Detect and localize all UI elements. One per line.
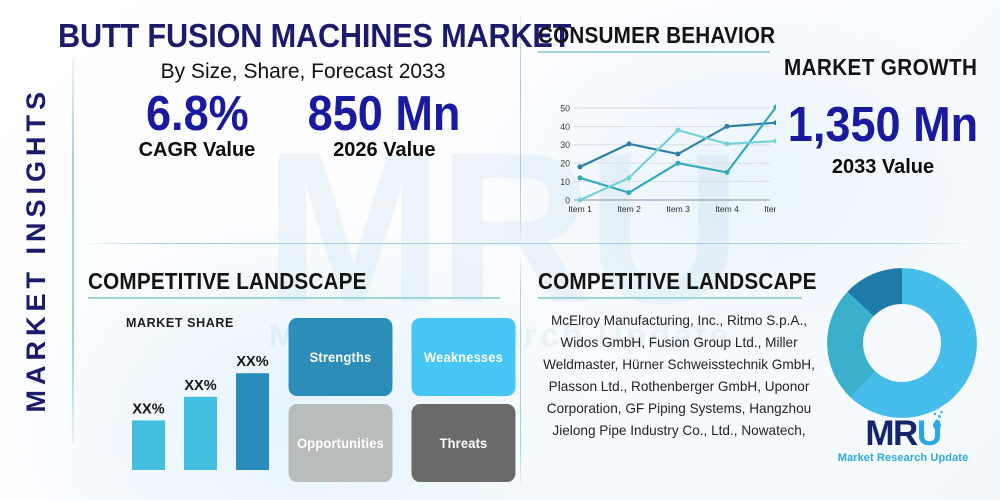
infographic-canvas: MRU Market Research Update MARKET INSIGH…	[0, 0, 1000, 500]
competitive-left-underline	[88, 297, 500, 299]
kpi-cagr-value: 6.8%	[143, 90, 250, 140]
consumer-behavior-line-chart: 01020304050 Item 1Item 2Item 3Item 4Item…	[548, 102, 776, 224]
swot-box-threats[interactable]: Threats	[412, 404, 516, 482]
svg-text:40: 40	[560, 122, 570, 132]
svg-text:XX%: XX%	[236, 354, 268, 370]
swot-box-opportunities[interactable]: Opportunities	[289, 404, 393, 482]
market-growth-label: 2033 Value	[778, 156, 988, 179]
company-list: McElroy Manufacturing, Inc., Ritmo S.p.A…	[538, 310, 820, 442]
logo-wordmark: MRU	[865, 416, 940, 451]
mru-logo: MRU Market Research Update	[824, 416, 982, 464]
competitive-landscape-left-panel: COMPETITIVE LANDSCAPE MARKET SHARE XX%XX…	[88, 268, 520, 299]
swot-threats-label: Threats	[440, 435, 488, 451]
swot-box-weaknesses[interactable]: Weaknesses	[412, 318, 516, 396]
kpi-2026-value: 850 Mn	[308, 90, 461, 140]
overview-subtitle: By Size, Share, Forecast 2033	[88, 60, 518, 84]
logo-mark-mr: MR	[865, 414, 916, 453]
svg-text:20: 20	[560, 159, 570, 169]
kpi-cagr-label: CAGR Value	[139, 139, 256, 162]
kpi-cagr: 6.8% CAGR Value	[139, 90, 256, 162]
rail-label: MARKET INSIGHTS	[21, 87, 52, 413]
line-chart-y-tick-labels: 01020304050	[560, 103, 570, 205]
swot-box-strengths[interactable]: Strengths	[289, 318, 393, 396]
logo-tagline: Market Research Update	[824, 452, 982, 464]
swot-strengths-label: Strengths	[310, 349, 372, 365]
competitive-left-heading: COMPETITIVE LANDSCAPE	[88, 268, 477, 295]
svg-text:Item 1: Item 1	[568, 204, 592, 214]
competitive-landscape-right-panel: COMPETITIVE LANDSCAPE McElroy Manufactur…	[538, 268, 990, 299]
donut-slices	[827, 268, 977, 418]
svg-text:Item 3: Item 3	[666, 204, 690, 214]
market-share-donut-chart	[824, 265, 980, 421]
water-droplet-icon	[929, 407, 945, 429]
market-share-bar-chart: XX%XX%XX%	[108, 320, 288, 480]
kpi-row: 6.8% CAGR Value 850 Mn 2026 Value	[88, 90, 518, 162]
vertical-divider-bottom	[520, 256, 521, 484]
svg-text:Item 5: Item 5	[764, 204, 776, 214]
consumer-behavior-underline	[538, 51, 770, 53]
svg-text:10: 10	[560, 177, 570, 187]
market-insights-rail: MARKET INSIGHTS	[0, 0, 72, 500]
svg-text:Item 4: Item 4	[715, 204, 739, 214]
kpi-2026: 850 Mn 2026 Value	[301, 90, 467, 162]
overview-panel: By Size, Share, Forecast 2033 6.8% CAGR …	[88, 60, 518, 162]
svg-text:30: 30	[560, 140, 570, 150]
svg-text:XX%: XX%	[132, 401, 164, 417]
competitive-right-underline	[538, 297, 802, 299]
consumer-behavior-panel: CONSUMER BEHAVIOR MARKET GROWTH 1,350 Mn…	[538, 22, 990, 53]
market-growth-title: MARKET GROWTH	[784, 54, 977, 81]
page-title: BUTT FUSION MACHINES MARKET	[58, 17, 571, 55]
horizontal-divider	[88, 243, 968, 244]
svg-text:XX%: XX%	[184, 378, 216, 394]
consumer-behavior-heading: CONSUMER BEHAVIOR	[538, 22, 945, 49]
swot-weaknesses-label: Weaknesses	[424, 349, 503, 365]
swot-opportunities-label: Opportunities	[297, 435, 384, 451]
kpi-2026-label: 2026 Value	[301, 139, 467, 162]
line-chart-x-tick-labels: Item 1Item 2Item 3Item 4Item 5	[568, 204, 776, 214]
rail-divider	[72, 58, 74, 444]
svg-text:Item 2: Item 2	[617, 204, 641, 214]
svg-text:50: 50	[560, 103, 570, 113]
swot-grid: Strengths Weaknesses Opportunities Threa…	[284, 318, 520, 482]
line-chart-series	[578, 105, 777, 203]
market-growth-value: 1,350 Mn	[786, 100, 979, 151]
